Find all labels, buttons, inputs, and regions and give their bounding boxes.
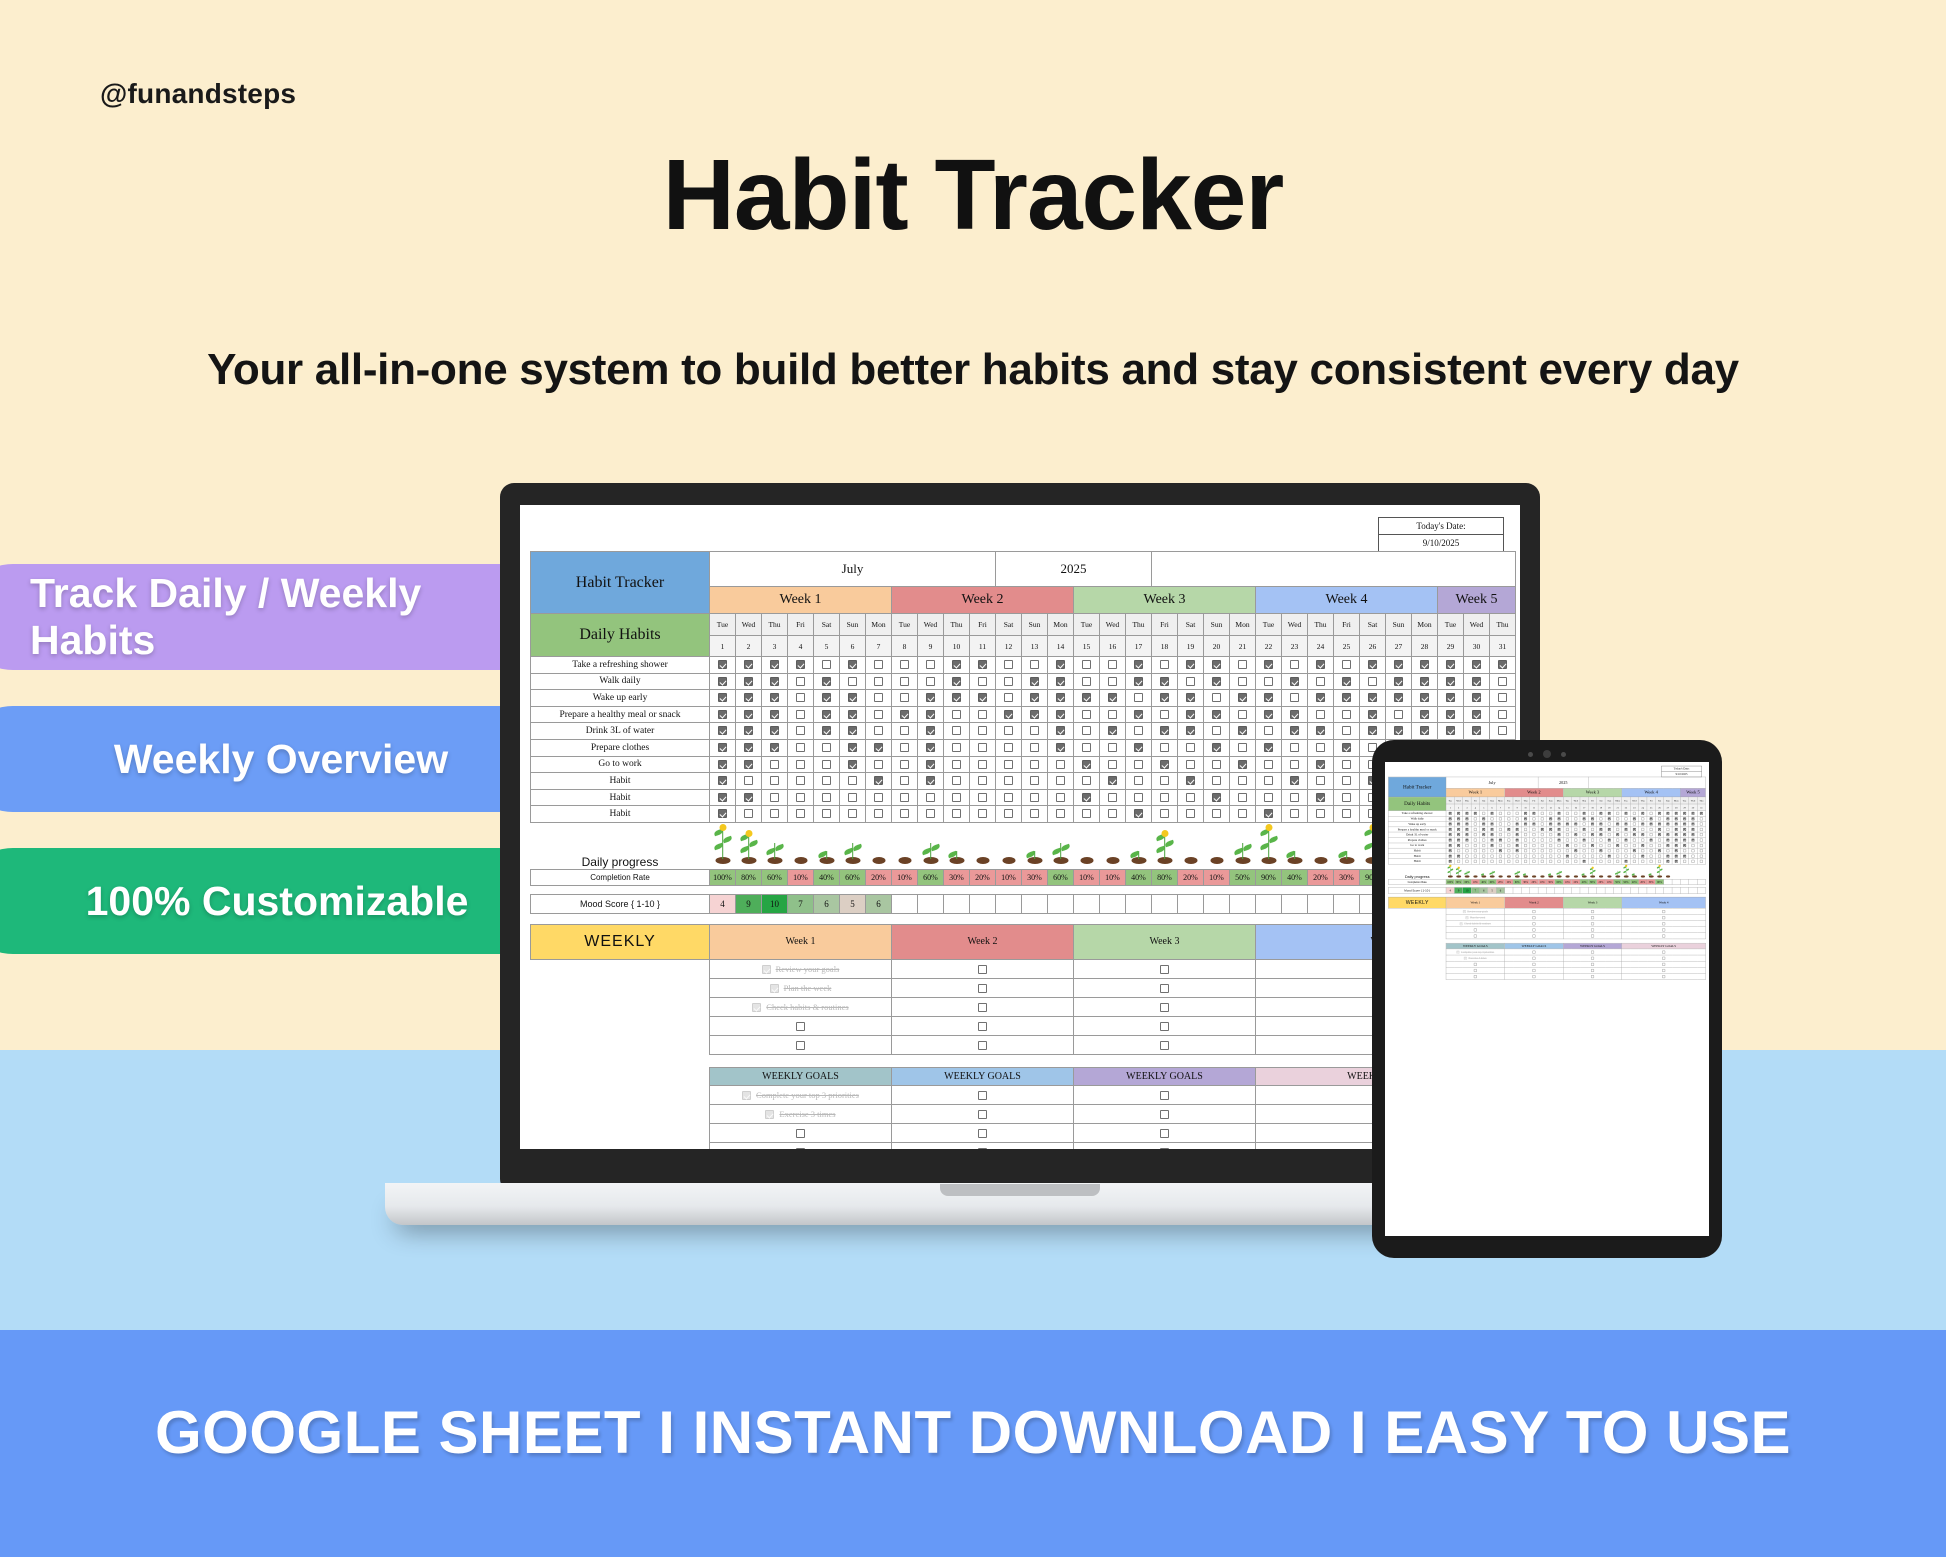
habit-checkbox-cell[interactable] [918, 739, 944, 756]
checkbox-icon[interactable] [1466, 839, 1469, 842]
checkbox-icon[interactable] [1524, 844, 1527, 847]
habit-checkbox-cell[interactable] [1100, 789, 1126, 806]
checkbox-icon[interactable] [1474, 844, 1477, 847]
habit-checkbox-cell[interactable] [970, 673, 996, 690]
checkbox-icon[interactable] [1692, 844, 1695, 847]
checkbox-icon[interactable] [1491, 833, 1494, 836]
checkbox-icon[interactable] [1591, 951, 1594, 954]
checkbox-icon[interactable] [1457, 812, 1460, 815]
checkbox-icon[interactable] [796, 660, 805, 669]
checkbox-icon[interactable] [1004, 710, 1013, 719]
weekly-task-cell[interactable] [1074, 978, 1256, 997]
completion-rate-cell[interactable]: 40% [1126, 869, 1152, 885]
checkbox-icon[interactable] [770, 760, 779, 769]
checkbox-icon[interactable] [1541, 823, 1544, 826]
habit-checkbox-cell[interactable] [1360, 723, 1386, 740]
checkbox-icon[interactable] [978, 677, 987, 686]
checkbox-icon[interactable] [926, 809, 935, 818]
weekly-goal-cell[interactable] [1446, 973, 1505, 979]
mood-score-cell[interactable] [1074, 894, 1100, 913]
checkbox-icon[interactable] [1368, 693, 1377, 702]
weekly-task-cell[interactable]: Review your goals [710, 959, 892, 978]
checkbox-icon[interactable] [874, 660, 883, 669]
habit-checkbox-cell[interactable] [944, 806, 970, 823]
checkbox-icon[interactable] [1342, 677, 1351, 686]
checkbox-icon[interactable] [848, 726, 857, 735]
habit-checkbox-cell[interactable] [762, 673, 788, 690]
habit-checkbox-cell[interactable] [1048, 657, 1074, 674]
habit-checkbox-cell[interactable] [1204, 690, 1230, 707]
checkbox-icon[interactable] [1464, 957, 1467, 960]
checkbox-icon[interactable] [762, 965, 771, 974]
checkbox-icon[interactable] [1583, 860, 1586, 863]
checkbox-icon[interactable] [1463, 910, 1466, 913]
completion-rate-cell[interactable]: 30% [1334, 869, 1360, 885]
habit-checkbox-cell[interactable] [970, 789, 996, 806]
checkbox-icon[interactable] [1160, 743, 1169, 752]
habit-checkbox-cell[interactable] [1100, 773, 1126, 790]
checkbox-icon[interactable] [1186, 726, 1195, 735]
checkbox-icon[interactable] [1583, 817, 1586, 820]
checkbox-icon[interactable] [1499, 855, 1502, 858]
checkbox-icon[interactable] [1186, 743, 1195, 752]
checkbox-icon[interactable] [978, 760, 987, 769]
checkbox-icon[interactable] [1658, 833, 1661, 836]
checkbox-icon[interactable] [952, 726, 961, 735]
habit-checkbox-cell[interactable] [1334, 806, 1360, 823]
checkbox-icon[interactable] [1599, 860, 1602, 863]
checkbox-icon[interactable] [1549, 823, 1552, 826]
habit-checkbox-cell[interactable] [1074, 690, 1100, 707]
checkbox-icon[interactable] [1662, 975, 1665, 978]
checkbox-icon[interactable] [1666, 833, 1669, 836]
checkbox-icon[interactable] [1449, 817, 1452, 820]
habit-checkbox-cell[interactable] [1230, 657, 1256, 674]
habit-checkbox-cell[interactable] [840, 773, 866, 790]
checkbox-icon[interactable] [770, 809, 779, 818]
habit-checkbox-cell[interactable] [840, 706, 866, 723]
habit-checkbox-cell[interactable] [1048, 673, 1074, 690]
checkbox-icon[interactable] [1633, 817, 1636, 820]
habit-checkbox-cell[interactable] [996, 806, 1022, 823]
checkbox-icon[interactable] [822, 776, 831, 785]
checkbox-icon[interactable] [874, 793, 883, 802]
habit-checkbox-cell[interactable] [762, 789, 788, 806]
checkbox-icon[interactable] [1524, 839, 1527, 842]
checkbox-icon[interactable] [770, 710, 779, 719]
habit-checkbox-cell[interactable] [944, 723, 970, 740]
checkbox-icon[interactable] [1616, 860, 1619, 863]
habit-checkbox-cell[interactable] [1074, 657, 1100, 674]
checkbox-icon[interactable] [1499, 812, 1502, 815]
habit-checkbox-cell[interactable] [1256, 690, 1282, 707]
checkbox-icon[interactable] [1683, 849, 1686, 852]
habit-checkbox-cell[interactable] [1256, 706, 1282, 723]
checkbox-icon[interactable] [978, 1129, 987, 1138]
checkbox-icon[interactable] [1482, 817, 1485, 820]
habit-checkbox-cell[interactable] [762, 706, 788, 723]
checkbox-icon[interactable] [1524, 823, 1527, 826]
checkbox-icon[interactable] [926, 776, 935, 785]
checkbox-icon[interactable] [1394, 710, 1403, 719]
habit-checkbox-cell[interactable] [1230, 789, 1256, 806]
weekly-goal-cell[interactable] [1563, 973, 1622, 979]
habit-checkbox-cell[interactable] [892, 773, 918, 790]
checkbox-icon[interactable] [1683, 823, 1686, 826]
checkbox-icon[interactable] [1625, 849, 1628, 852]
habit-label[interactable]: Wake up early [531, 690, 710, 707]
completion-rate-cell[interactable]: 90% [1256, 869, 1282, 885]
checkbox-icon[interactable] [874, 710, 883, 719]
checkbox-icon[interactable] [1599, 833, 1602, 836]
checkbox-icon[interactable] [1666, 844, 1669, 847]
checkbox-icon[interactable] [848, 677, 857, 686]
checkbox-icon[interactable] [1472, 677, 1481, 686]
checkbox-icon[interactable] [1446, 710, 1455, 719]
habit-checkbox-cell[interactable] [866, 657, 892, 674]
checkbox-icon[interactable] [1342, 760, 1351, 769]
completion-rate-cell[interactable]: 10% [892, 869, 918, 885]
checkbox-icon[interactable] [1316, 660, 1325, 669]
checkbox-icon[interactable] [718, 726, 727, 735]
checkbox-icon[interactable] [1650, 812, 1653, 815]
habit-checkbox-cell[interactable] [866, 773, 892, 790]
habit-checkbox-cell[interactable] [1178, 706, 1204, 723]
checkbox-icon[interactable] [1004, 660, 1013, 669]
checkbox-icon[interactable] [1466, 817, 1469, 820]
completion-rate-cell[interactable]: 30% [944, 869, 970, 885]
checkbox-icon[interactable] [1558, 844, 1561, 847]
habit-checkbox-cell[interactable] [1152, 723, 1178, 740]
checkbox-icon[interactable] [1368, 710, 1377, 719]
checkbox-icon[interactable] [765, 1110, 774, 1119]
habit-checkbox-cell[interactable] [1282, 773, 1308, 790]
mood-score-cell[interactable] [1178, 894, 1204, 913]
checkbox-icon[interactable] [1342, 793, 1351, 802]
habit-checkbox-cell[interactable] [944, 657, 970, 674]
checkbox-icon[interactable] [1212, 743, 1221, 752]
habit-checkbox-cell[interactable] [866, 706, 892, 723]
checkbox-icon[interactable] [1662, 957, 1665, 960]
checkbox-icon[interactable] [1625, 828, 1628, 831]
checkbox-icon[interactable] [1482, 844, 1485, 847]
checkbox-icon[interactable] [1264, 693, 1273, 702]
checkbox-icon[interactable] [1482, 833, 1485, 836]
checkbox-icon[interactable] [1108, 710, 1117, 719]
checkbox-icon[interactable] [900, 793, 909, 802]
checkbox-icon[interactable] [1264, 743, 1273, 752]
checkbox-icon[interactable] [1591, 828, 1594, 831]
checkbox-icon[interactable] [1082, 760, 1091, 769]
checkbox-icon[interactable] [1186, 809, 1195, 818]
habit-checkbox-cell[interactable] [1308, 773, 1334, 790]
habit-label[interactable]: Walk daily [531, 673, 710, 690]
weekly-task-cell[interactable] [892, 997, 1074, 1016]
mood-score-cell[interactable] [970, 894, 996, 913]
checkbox-icon[interactable] [822, 693, 831, 702]
checkbox-icon[interactable] [1134, 660, 1143, 669]
habit-checkbox-cell[interactable] [1412, 723, 1438, 740]
checkbox-icon[interactable] [1264, 809, 1273, 818]
checkbox-icon[interactable] [1499, 839, 1502, 842]
checkbox-icon[interactable] [1290, 760, 1299, 769]
checkbox-icon[interactable] [1574, 817, 1577, 820]
habit-checkbox-cell[interactable] [1334, 690, 1360, 707]
habit-checkbox-cell[interactable] [866, 806, 892, 823]
habit-label[interactable]: Prepare clothes [531, 739, 710, 756]
weekly-goal-cell[interactable] [1505, 973, 1564, 979]
checkbox-icon[interactable] [1491, 812, 1494, 815]
checkbox-icon[interactable] [1549, 844, 1552, 847]
checkbox-icon[interactable] [822, 793, 831, 802]
habit-checkbox-cell[interactable] [710, 657, 736, 674]
checkbox-icon[interactable] [822, 710, 831, 719]
mood-score-cell[interactable]: 10 [762, 894, 788, 913]
checkbox-icon[interactable] [1030, 776, 1039, 785]
checkbox-icon[interactable] [1030, 710, 1039, 719]
checkbox-icon[interactable] [1662, 910, 1665, 913]
checkbox-icon[interactable] [1532, 935, 1535, 938]
checkbox-icon[interactable] [1532, 957, 1535, 960]
checkbox-icon[interactable] [1574, 849, 1577, 852]
habit-checkbox-cell[interactable] [1100, 673, 1126, 690]
checkbox-icon[interactable] [1507, 855, 1510, 858]
checkbox-icon[interactable] [1290, 793, 1299, 802]
completion-rate-cell[interactable]: 60% [762, 869, 788, 885]
habit-checkbox-cell[interactable] [1334, 673, 1360, 690]
habit-checkbox-cell[interactable] [1126, 673, 1152, 690]
checkbox-icon[interactable] [1683, 817, 1686, 820]
habit-checkbox-cell[interactable] [866, 789, 892, 806]
checkbox-icon[interactable] [1650, 849, 1653, 852]
checkbox-icon[interactable] [1692, 828, 1695, 831]
checkbox-icon[interactable] [1633, 860, 1636, 863]
checkbox-icon[interactable] [770, 693, 779, 702]
checkbox-icon[interactable] [926, 710, 935, 719]
checkbox-icon[interactable] [1558, 817, 1561, 820]
checkbox-icon[interactable] [1633, 839, 1636, 842]
checkbox-icon[interactable] [1608, 812, 1611, 815]
habit-checkbox-cell[interactable] [1204, 773, 1230, 790]
checkbox-icon[interactable] [1616, 823, 1619, 826]
weekly-goal-cell[interactable] [1622, 973, 1706, 979]
habit-checkbox-cell[interactable] [1230, 706, 1256, 723]
checkbox-icon[interactable] [1457, 844, 1460, 847]
checkbox-icon[interactable] [718, 809, 727, 818]
checkbox-icon[interactable] [1474, 975, 1477, 978]
checkbox-icon[interactable] [1666, 839, 1669, 842]
checkbox-icon[interactable] [978, 693, 987, 702]
checkbox-icon[interactable] [1683, 828, 1686, 831]
checkbox-icon[interactable] [978, 1041, 987, 1050]
habit-checkbox-cell[interactable] [1438, 657, 1464, 674]
checkbox-icon[interactable] [1641, 839, 1644, 842]
habit-checkbox-cell[interactable] [1256, 739, 1282, 756]
habit-checkbox-cell[interactable] [1048, 806, 1074, 823]
checkbox-icon[interactable] [1591, 957, 1594, 960]
weekly-goal-cell[interactable] [1074, 1104, 1256, 1123]
checkbox-icon[interactable] [978, 726, 987, 735]
checkbox-icon[interactable] [1466, 855, 1469, 858]
habit-checkbox-cell[interactable] [1256, 723, 1282, 740]
checkbox-icon[interactable] [1591, 963, 1594, 966]
checkbox-icon[interactable] [770, 726, 779, 735]
checkbox-icon[interactable] [822, 677, 831, 686]
habit-checkbox-cell[interactable] [1152, 806, 1178, 823]
checkbox-icon[interactable] [1108, 760, 1117, 769]
checkbox-icon[interactable] [978, 809, 987, 818]
checkbox-icon[interactable] [1030, 760, 1039, 769]
habit-checkbox-cell[interactable] [1282, 673, 1308, 690]
checkbox-icon[interactable] [1524, 812, 1527, 815]
checkbox-icon[interactable] [1541, 849, 1544, 852]
checkbox-icon[interactable] [1507, 812, 1510, 815]
habit-checkbox-cell[interactable] [944, 789, 970, 806]
checkbox-icon[interactable] [1700, 855, 1703, 858]
checkbox-icon[interactable] [1692, 823, 1695, 826]
checkbox-icon[interactable] [1662, 969, 1665, 972]
checkbox-icon[interactable] [1658, 855, 1661, 858]
checkbox-icon[interactable] [1368, 660, 1377, 669]
habit-checkbox-cell[interactable] [762, 806, 788, 823]
completion-rate-cell[interactable]: 50% [1230, 869, 1256, 885]
habit-checkbox-cell[interactable] [1022, 690, 1048, 707]
mood-score-cell[interactable]: 4 [710, 894, 736, 913]
habit-checkbox-cell[interactable] [866, 690, 892, 707]
checkbox-icon[interactable] [1056, 793, 1065, 802]
habit-checkbox-cell[interactable] [1022, 706, 1048, 723]
habit-checkbox-cell[interactable] [1308, 806, 1334, 823]
checkbox-icon[interactable] [1683, 860, 1686, 863]
weekly-task-cell[interactable] [892, 1016, 1074, 1035]
habit-checkbox-cell[interactable] [1048, 739, 1074, 756]
checkbox-icon[interactable] [1608, 839, 1611, 842]
checkbox-icon[interactable] [1532, 855, 1535, 858]
habit-checkbox-cell[interactable] [1048, 690, 1074, 707]
checkbox-icon[interactable] [1290, 660, 1299, 669]
habit-checkbox-cell[interactable] [1126, 657, 1152, 674]
checkbox-icon[interactable] [1641, 855, 1644, 858]
checkbox-icon[interactable] [952, 776, 961, 785]
habit-checkbox-cell[interactable] [1100, 756, 1126, 773]
mood-score-cell[interactable] [1308, 894, 1334, 913]
checkbox-icon[interactable] [874, 776, 883, 785]
checkbox-icon[interactable] [1675, 812, 1678, 815]
checkbox-icon[interactable] [770, 677, 779, 686]
checkbox-icon[interactable] [1616, 839, 1619, 842]
checkbox-icon[interactable] [1516, 860, 1519, 863]
habit-checkbox-cell[interactable] [1126, 706, 1152, 723]
habit-checkbox-cell[interactable] [1204, 673, 1230, 690]
habit-checkbox-cell[interactable] [970, 706, 996, 723]
checkbox-icon[interactable] [848, 693, 857, 702]
completion-rate-cell[interactable]: 40% [1282, 869, 1308, 885]
checkbox-icon[interactable] [1472, 710, 1481, 719]
habit-checkbox-cell[interactable] [1126, 806, 1152, 823]
checkbox-icon[interactable] [1574, 860, 1577, 863]
habit-checkbox-cell[interactable] [814, 690, 840, 707]
checkbox-icon[interactable] [1449, 828, 1452, 831]
checkbox-icon[interactable] [1616, 855, 1619, 858]
checkbox-icon[interactable] [1583, 855, 1586, 858]
checkbox-icon[interactable] [1460, 922, 1463, 925]
habit-checkbox-cell[interactable] [996, 739, 1022, 756]
checkbox-icon[interactable] [1394, 677, 1403, 686]
habit-checkbox-cell[interactable] [1256, 789, 1282, 806]
habit-checkbox-cell[interactable] [1204, 706, 1230, 723]
habit-checkbox-cell[interactable] [1282, 690, 1308, 707]
checkbox-icon[interactable] [1316, 809, 1325, 818]
checkbox-icon[interactable] [1160, 1110, 1169, 1119]
checkbox-icon[interactable] [1692, 860, 1695, 863]
habit-checkbox-cell[interactable] [1126, 739, 1152, 756]
checkbox-icon[interactable] [1134, 710, 1143, 719]
checkbox-icon[interactable] [1290, 743, 1299, 752]
checkbox-icon[interactable] [1491, 844, 1494, 847]
checkbox-icon[interactable] [1082, 693, 1091, 702]
checkbox-icon[interactable] [1608, 823, 1611, 826]
mood-score-cell[interactable]: 7 [788, 894, 814, 913]
checkbox-icon[interactable] [1558, 833, 1561, 836]
checkbox-icon[interactable] [1342, 726, 1351, 735]
habit-checkbox-cell[interactable] [710, 723, 736, 740]
checkbox-icon[interactable] [1446, 677, 1455, 686]
completion-rate-cell[interactable]: 60% [840, 869, 866, 885]
checkbox-icon[interactable] [744, 726, 753, 735]
checkbox-icon[interactable] [1449, 823, 1452, 826]
habit-checkbox-cell[interactable] [1256, 773, 1282, 790]
checkbox-icon[interactable] [1499, 823, 1502, 826]
checkbox-icon[interactable] [1507, 823, 1510, 826]
checkbox-icon[interactable] [1290, 677, 1299, 686]
habit-checkbox-cell[interactable] [1464, 706, 1490, 723]
checkbox-icon[interactable] [1692, 833, 1695, 836]
checkbox-icon[interactable] [1449, 844, 1452, 847]
checkbox-icon[interactable] [848, 660, 857, 669]
checkbox-icon[interactable] [1625, 833, 1628, 836]
checkbox-icon[interactable] [1212, 660, 1221, 669]
checkbox-icon[interactable] [926, 693, 935, 702]
checkbox-icon[interactable] [1030, 677, 1039, 686]
checkbox-icon[interactable] [1456, 951, 1459, 954]
checkbox-icon[interactable] [1420, 710, 1429, 719]
checkbox-icon[interactable] [1700, 849, 1703, 852]
checkbox-icon[interactable] [1616, 844, 1619, 847]
checkbox-icon[interactable] [1574, 812, 1577, 815]
checkbox-icon[interactable] [796, 1148, 805, 1149]
habit-checkbox-cell[interactable] [1126, 723, 1152, 740]
checkbox-icon[interactable] [1675, 817, 1678, 820]
checkbox-icon[interactable] [978, 710, 987, 719]
weekly-goal-cell[interactable] [892, 1085, 1074, 1104]
checkbox-icon[interactable] [1683, 855, 1686, 858]
checkbox-icon[interactable] [1516, 849, 1519, 852]
checkbox-icon[interactable] [1675, 839, 1678, 842]
habit-checkbox-cell[interactable] [892, 673, 918, 690]
checkbox-icon[interactable] [1160, 726, 1169, 735]
checkbox-icon[interactable] [1290, 693, 1299, 702]
habit-checkbox-cell[interactable] [1256, 756, 1282, 773]
habit-checkbox-cell[interactable] [918, 673, 944, 690]
checkbox-icon[interactable] [1516, 828, 1519, 831]
checkbox-icon[interactable] [900, 743, 909, 752]
checkbox-icon[interactable] [1532, 839, 1535, 842]
checkbox-icon[interactable] [1474, 828, 1477, 831]
completion-rate-cell[interactable]: 100% [710, 869, 736, 885]
checkbox-icon[interactable] [1658, 849, 1661, 852]
checkbox-icon[interactable] [770, 793, 779, 802]
habit-checkbox-cell[interactable] [762, 773, 788, 790]
